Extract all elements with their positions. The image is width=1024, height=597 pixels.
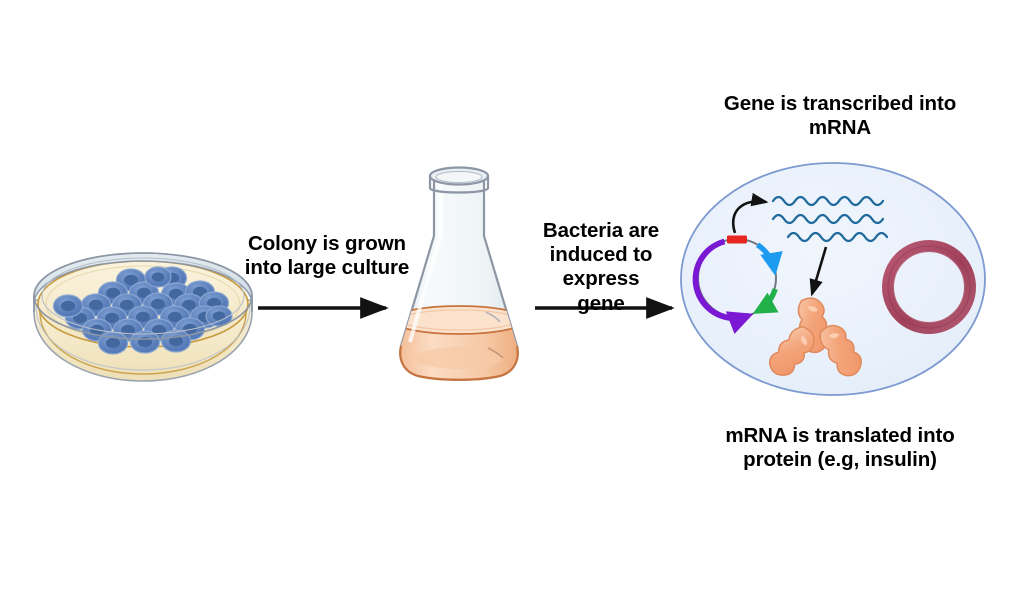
petri-dish-illustration	[34, 253, 252, 381]
diagram-canvas: Colony is grown into large culture Bacte…	[0, 0, 1024, 597]
plasmid-gene-insert	[727, 236, 747, 244]
bacterial-cell-illustration	[681, 163, 985, 395]
label-bacteria-induced: Bacteria are induced to express gene	[511, 219, 691, 316]
label-gene-transcribed: Gene is transcribed into mRNA	[690, 92, 990, 140]
label-colony-grown: Colony is grown into large culture	[234, 232, 420, 280]
label-mrna-translated: mRNA is translated into protein (e.g, in…	[690, 424, 990, 472]
